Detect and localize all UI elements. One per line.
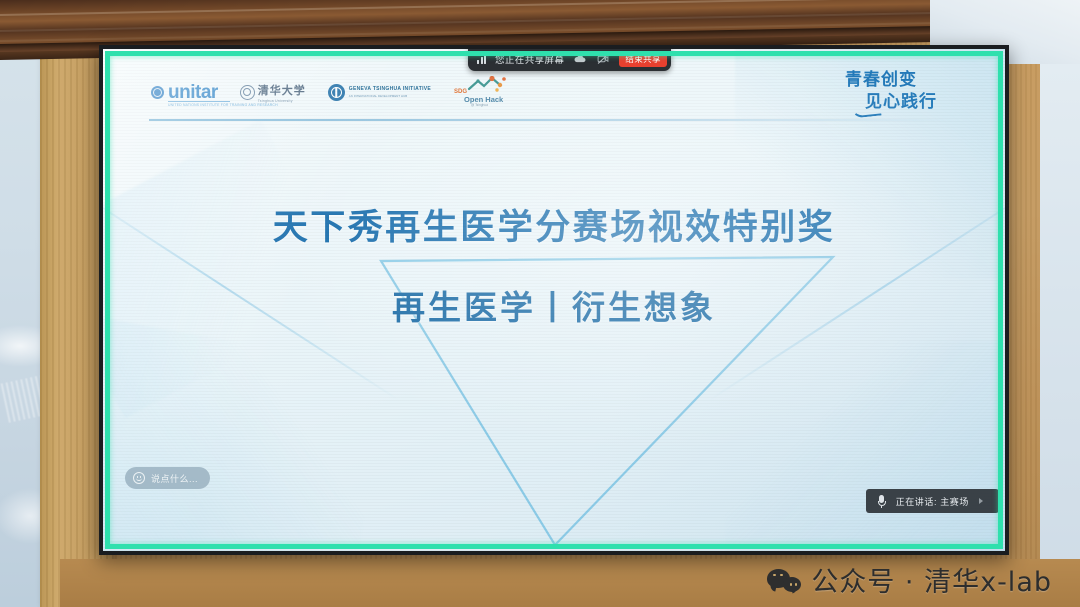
share-status-text: 您正在共享屏幕	[495, 52, 564, 66]
smiley-face-icon[interactable]	[133, 472, 145, 484]
microphone-icon	[878, 495, 886, 508]
presentation-slide: unitar UNITED NATIONS INSTITUTE FOR TRAI…	[103, 49, 1005, 551]
logo-unitar: unitar UNITED NATIONS INSTITUTE FOR TRAI…	[151, 83, 218, 102]
slide-subtitle: 再生医学丨衍生想象	[103, 281, 1005, 329]
comment-input-pill[interactable]: 说点什么...	[125, 467, 210, 489]
end-share-button[interactable]: 结束共享	[619, 51, 667, 67]
open-hack-burst-icon	[467, 76, 507, 94]
logo-open-hack-subtitle: @ Tsinghua	[471, 103, 488, 107]
video-off-icon[interactable]	[596, 52, 610, 66]
logo-geneva-tsinghua-initiative: GENEVA TSINGHUA INITIATIVE AN INTERNATIO…	[328, 84, 431, 101]
chevron-right-icon[interactable]	[979, 498, 983, 504]
wechat-watermark: 公众号 · 清华x-lab	[767, 560, 1052, 599]
tsinghua-seal-icon	[240, 85, 255, 100]
slide-headline: 天下秀再生医学分赛场视效特别奖	[103, 199, 1005, 250]
conference-room-scene: unitar UNITED NATIONS INSTITUTE FOR TRAI…	[0, 0, 1080, 607]
comment-placeholder: 说点什么...	[151, 472, 198, 485]
active-speaker-text: 正在讲话: 主赛场	[896, 495, 969, 508]
logo-sdg-open-hack: SDG Open Hack @ Tsinghua	[453, 75, 507, 109]
active-speaker-bar[interactable]: 正在讲话: 主赛场	[866, 489, 999, 513]
partner-logo-bar: unitar UNITED NATIONS INSTITUTE FOR TRAI…	[151, 75, 507, 109]
slogan-underline-stroke	[850, 103, 881, 118]
logo-geneva-label: GENEVA TSINGHUA INITIATIVE	[349, 86, 431, 92]
brand-slogan: 青春创变 见心践行	[845, 71, 965, 119]
wechat-icon	[767, 567, 801, 593]
logo-tsinghua: 清华大学 Tsinghua University	[240, 82, 306, 103]
watermark-text: 公众号 · 清华x-lab	[811, 560, 1052, 599]
screen-share-toolbar[interactable]: 您正在共享屏幕 结束共享	[468, 49, 671, 71]
logo-divider-rule	[149, 119, 961, 121]
frosted-glass-wall-right	[1040, 0, 1080, 607]
shared-screen[interactable]: unitar UNITED NATIONS INSTITUTE FOR TRAI…	[103, 49, 1005, 551]
audio-cloud-icon[interactable]	[573, 52, 587, 66]
geneva-globe-icon	[328, 84, 345, 101]
logo-unitar-subtitle: UNITED NATIONS INSTITUTE FOR TRAINING AN…	[168, 103, 278, 107]
logo-unitar-rule	[168, 101, 230, 102]
logo-tsinghua-subtitle: Tsinghua University	[258, 99, 306, 103]
logo-tsinghua-label: 清华大学	[258, 82, 306, 98]
display-screen-frame: unitar UNITED NATIONS INSTITUTE FOR TRAI…	[99, 45, 1009, 555]
signal-bars-icon	[477, 55, 486, 64]
logo-geneva-subtitle: AN INTERNATIONAL DEVELOPMENT HUB	[349, 94, 431, 98]
slogan-line-1: 青春创变	[845, 71, 965, 88]
logo-unitar-label: unitar	[168, 83, 218, 102]
un-globe-icon	[151, 86, 164, 99]
